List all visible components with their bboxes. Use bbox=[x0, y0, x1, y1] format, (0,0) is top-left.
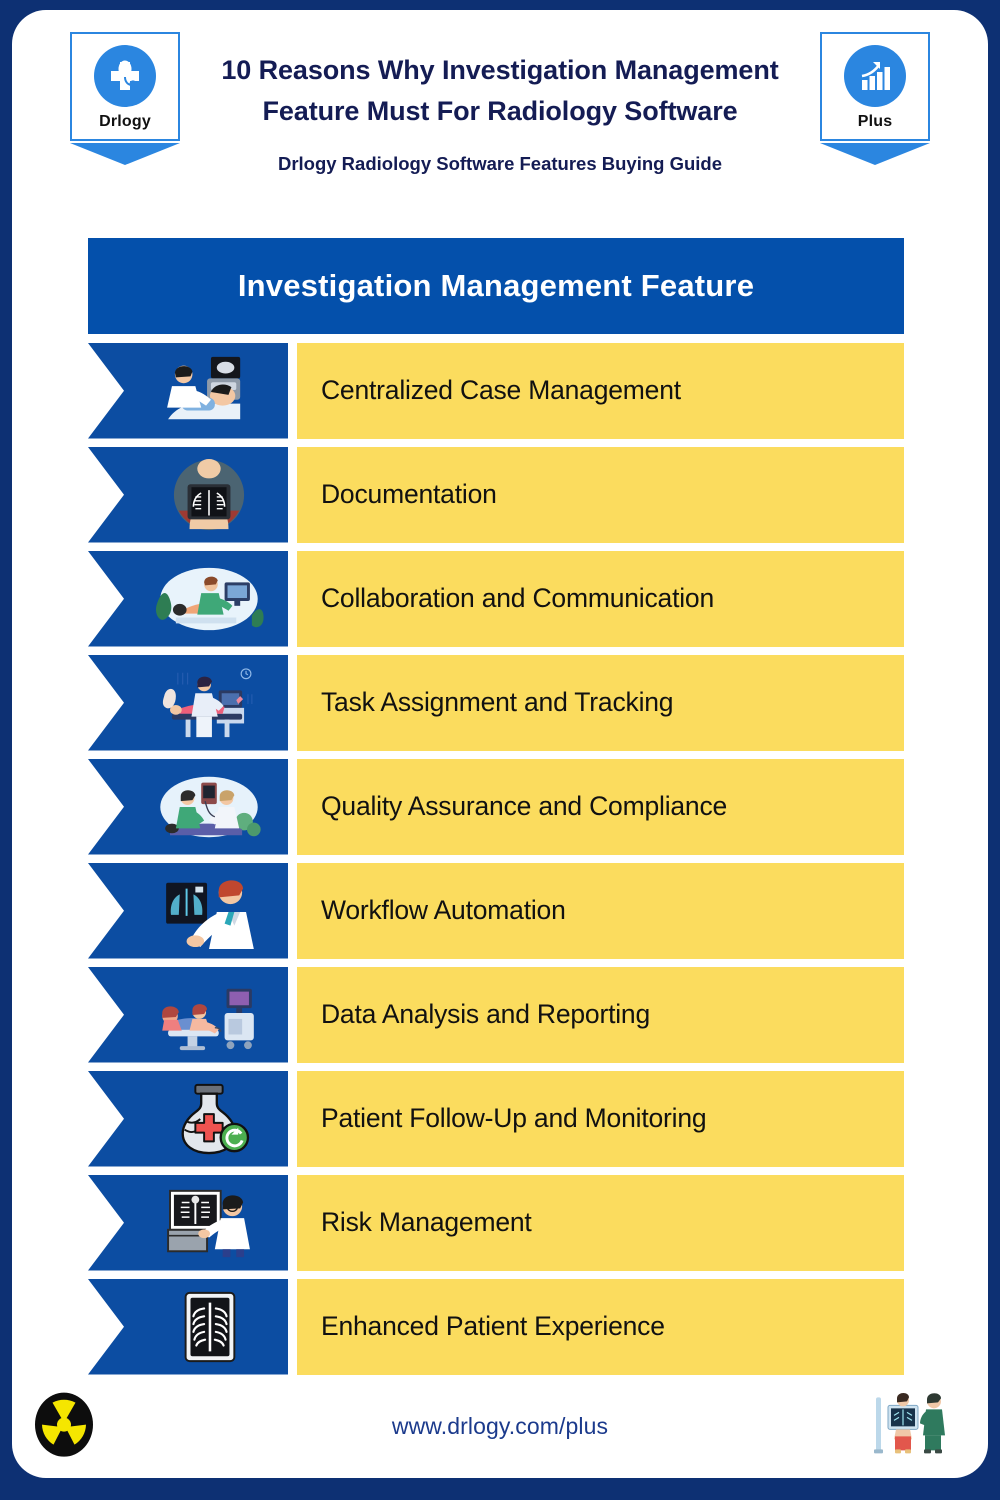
list-item[interactable]: Risk Management bbox=[88, 1175, 904, 1271]
radiologist-lightbox-icon bbox=[88, 1175, 288, 1271]
feature-label: Documentation bbox=[321, 479, 497, 510]
title-block: 10 Reasons Why Investigation Management … bbox=[200, 50, 800, 175]
two-clinicians-exam-icon bbox=[88, 759, 288, 855]
section-banner-title: Investigation Management Feature bbox=[238, 268, 754, 304]
list-item[interactable]: Data Analysis and Reporting bbox=[88, 967, 904, 1063]
doctor-reading-xray-icon bbox=[88, 863, 288, 959]
feature-label: Risk Management bbox=[321, 1207, 532, 1238]
feature-label: Quality Assurance and Compliance bbox=[321, 791, 727, 822]
feature-label-wrapper: Task Assignment and Tracking bbox=[297, 655, 904, 751]
feature-label: Task Assignment and Tracking bbox=[321, 687, 673, 718]
feature-label: Data Analysis and Reporting bbox=[321, 999, 650, 1030]
infographic-card: Drlogy Plu bbox=[12, 10, 988, 1478]
badge-tail bbox=[70, 143, 180, 169]
footer: www.drlogy.com/plus bbox=[12, 1382, 988, 1478]
feature-label-wrapper: Risk Management bbox=[297, 1175, 904, 1271]
infographic-page: Drlogy Plu bbox=[0, 0, 1000, 1500]
feature-label-wrapper: Workflow Automation bbox=[297, 863, 904, 959]
feature-label-wrapper: Data Analysis and Reporting bbox=[297, 967, 904, 1063]
sonographer-monitor-icon bbox=[88, 551, 288, 647]
xray-patient-technician-icon bbox=[872, 1391, 958, 1460]
badge-body: Drlogy bbox=[70, 32, 180, 141]
feature-label: Collaboration and Communication bbox=[321, 583, 714, 614]
feature-label: Enhanced Patient Experience bbox=[321, 1311, 665, 1342]
badge-label: Drlogy bbox=[99, 113, 151, 131]
list-item[interactable]: Workflow Automation bbox=[88, 863, 904, 959]
technician-scanner-table-icon bbox=[88, 655, 288, 751]
feature-label: Workflow Automation bbox=[321, 895, 566, 926]
list-item[interactable]: Quality Assurance and Compliance bbox=[88, 759, 904, 855]
feature-label-wrapper: Quality Assurance and Compliance bbox=[297, 759, 904, 855]
list-item[interactable]: Task Assignment and Tracking bbox=[88, 655, 904, 751]
feature-label-wrapper: Enhanced Patient Experience bbox=[297, 1279, 904, 1375]
medicine-flask-refresh-icon bbox=[88, 1071, 288, 1167]
list-item[interactable]: Collaboration and Communication bbox=[88, 551, 904, 647]
feature-label-wrapper: Documentation bbox=[297, 447, 904, 543]
badge-body: Plus bbox=[820, 32, 930, 141]
growth-chart-icon bbox=[844, 45, 906, 107]
badge-label: Plus bbox=[858, 113, 893, 131]
feature-label: Patient Follow-Up and Monitoring bbox=[321, 1103, 706, 1134]
feature-label-wrapper: Collaboration and Communication bbox=[297, 551, 904, 647]
medical-cross-stethoscope-icon bbox=[94, 45, 156, 107]
page-subtitle: Drlogy Radiology Software Features Buyin… bbox=[200, 153, 800, 175]
brand-badge-plus: Plus bbox=[820, 32, 930, 169]
feature-list: Centralized Case Management bbox=[88, 343, 904, 1382]
list-item[interactable]: Centralized Case Management bbox=[88, 343, 904, 439]
list-item[interactable]: Patient Follow-Up and Monitoring bbox=[88, 1071, 904, 1167]
list-item[interactable]: Enhanced Patient Experience bbox=[88, 1279, 904, 1375]
feature-label: Centralized Case Management bbox=[321, 375, 681, 406]
header: Drlogy Plu bbox=[12, 10, 988, 238]
feature-label-wrapper: Centralized Case Management bbox=[297, 343, 904, 439]
feature-label-wrapper: Patient Follow-Up and Monitoring bbox=[297, 1071, 904, 1167]
list-item[interactable]: Documentation bbox=[88, 447, 904, 543]
chest-xray-tablet-icon bbox=[88, 447, 288, 543]
ultrasound-scan-patient-icon bbox=[88, 343, 288, 439]
ultrasound-machine-cart-icon bbox=[88, 967, 288, 1063]
brand-badge-drlogy: Drlogy bbox=[70, 32, 180, 169]
badge-tail bbox=[820, 143, 930, 169]
radiation-trefoil-icon bbox=[34, 1392, 94, 1463]
website-url[interactable]: www.drlogy.com/plus bbox=[392, 1413, 608, 1440]
page-title: 10 Reasons Why Investigation Management … bbox=[200, 50, 800, 133]
xray-film-ribcage-icon bbox=[88, 1279, 288, 1375]
section-banner: Investigation Management Feature bbox=[88, 238, 904, 334]
